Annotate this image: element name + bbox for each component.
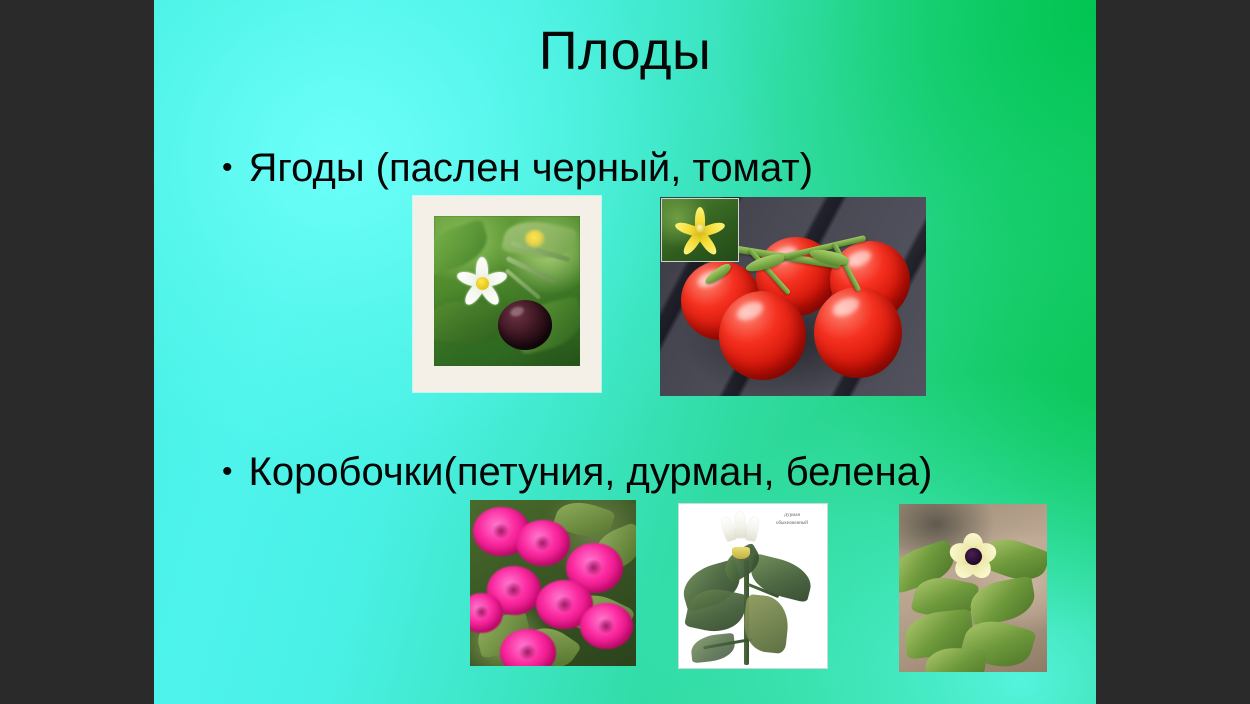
bullet-item-capsules: • Коробочки(петуния, дурман, белена) <box>222 452 932 492</box>
image-nightshade-photo <box>434 216 580 366</box>
henbane-flower <box>947 531 999 583</box>
image-tomatoes <box>660 197 926 396</box>
datura-leaf <box>690 633 737 664</box>
datura-caption: Дурман обыкновенный <box>763 512 821 527</box>
datura-flower-petal <box>745 516 761 542</box>
bullet-item-berries: • Ягоды (паслен черный, томат) <box>222 148 813 188</box>
petunia-flower <box>500 629 556 666</box>
presentation-slide: Плоды • Ягоды (паслен черный, томат) <box>154 0 1096 704</box>
datura-flower-base <box>732 547 750 559</box>
nightshade-flower-center <box>476 277 489 290</box>
image-datura-illustration: Дурман обыкновенный <box>679 504 827 668</box>
slide-title: Плоды <box>154 24 1096 78</box>
datura-caption-line1: Дурман <box>763 512 821 520</box>
image-nightshade-framed <box>413 196 601 392</box>
slide-content: Плоды • Ягоды (паслен черный, томат) <box>154 0 1096 704</box>
nightshade-black-berry <box>498 300 552 350</box>
bullet-marker-icon: • <box>222 153 233 183</box>
bullet-label-capsules: Коробочки(петуния, дурман, белена) <box>249 452 933 492</box>
slide-viewer: Плоды • Ягоды (паслен черный, томат) <box>0 0 1250 704</box>
tomato-fruit <box>814 287 902 379</box>
nightshade-small-flower <box>525 230 545 248</box>
henbane-flower-center <box>965 548 982 565</box>
nightshade-flower <box>454 255 510 311</box>
bullet-marker-icon: • <box>222 457 233 487</box>
tomato-fruit <box>719 291 807 381</box>
petunia-flower <box>516 520 569 566</box>
image-petunia <box>470 500 636 666</box>
image-henbane <box>899 504 1047 672</box>
tomato-flower-center <box>696 224 705 233</box>
datura-caption-line2: обыкновенный <box>763 520 821 528</box>
image-tomato-flower-inset <box>661 198 739 262</box>
nightshade-scene <box>434 216 580 366</box>
petunia-flower <box>580 603 633 649</box>
bullet-label-berries: Ягоды (паслен черный, томат) <box>249 148 814 188</box>
